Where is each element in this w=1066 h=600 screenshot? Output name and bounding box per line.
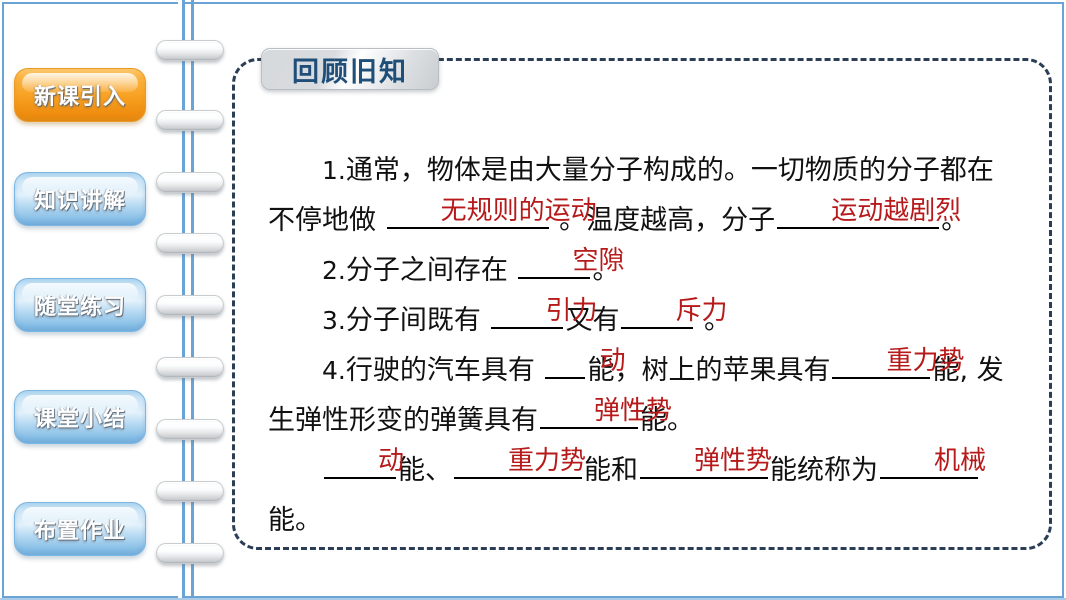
question-text: 能统称为 — [770, 455, 878, 486]
sidebar-item-label: 随堂练习 — [34, 289, 126, 321]
binding-ring — [156, 172, 224, 193]
answer-text: 重力势 — [832, 347, 930, 375]
question-text: 分子之间存在 — [346, 255, 517, 286]
binding-ring — [156, 40, 224, 61]
answer-blank[interactable]: 引力 — [491, 297, 563, 329]
binding-ring — [156, 295, 224, 316]
answer-blank[interactable]: 斥力 — [621, 297, 693, 329]
spiral-binding — [178, 0, 204, 600]
sidebar-item-3[interactable]: 随堂练习 — [14, 278, 146, 332]
answer-blank[interactable]: 运动越剧烈 — [777, 197, 939, 229]
sidebar-item-5[interactable]: 布置作业 — [14, 502, 146, 556]
question-text: 行驶的汽车具有 — [346, 355, 544, 386]
answer-text: 动 — [324, 447, 396, 475]
binding-ring — [156, 543, 224, 564]
section-tab-review[interactable]: 回顾旧知 — [261, 48, 439, 90]
answer-text: 运动越剧烈 — [777, 197, 939, 225]
answer-blank[interactable]: 无规则的运动 — [387, 197, 549, 229]
item-4: 4.行驶的汽车具有 动能，树上的苹果具有重力势能, 发生弹性形变的弹簧具有弹性势… — [268, 346, 1013, 446]
question-text: 能和 — [584, 455, 638, 486]
answer-blank[interactable]: 重力势 — [832, 347, 930, 379]
answer-text: 弹性势 — [640, 447, 768, 475]
answer-blank[interactable]: 动 — [324, 447, 396, 479]
sidebar-item-label: 布置作业 — [34, 513, 126, 545]
answer-blank[interactable]: 重力势 — [454, 447, 582, 479]
answer-blank[interactable]: 机械 — [880, 447, 978, 479]
sidebar-item-label: 知识讲解 — [34, 183, 126, 215]
answer-text: 空隙 — [518, 247, 590, 275]
question-text: 能、 — [398, 455, 452, 486]
sidebar-item-4[interactable]: 课堂小结 — [14, 390, 146, 444]
answer-blank[interactable]: 空隙 — [518, 247, 590, 279]
section-tab-label: 回顾旧知 — [292, 50, 408, 89]
answer-blank[interactable]: 动 — [545, 347, 585, 379]
item-1: 1.通常，物体是由大量分子构成的。一切物质的分子都在不停地做 无规则的运动 。温… — [268, 146, 1013, 246]
sidebar-item-2[interactable]: 知识讲解 — [14, 172, 146, 226]
answer-text: 机械 — [880, 447, 978, 475]
item-number: 4. — [322, 356, 346, 385]
answer-text: 弹性势 — [540, 397, 638, 425]
review-questions-body: 1.通常，物体是由大量分子构成的。一切物质的分子都在不停地做 无规则的运动 。温… — [268, 146, 1013, 546]
item-number: 3. — [322, 306, 346, 335]
binding-ring — [156, 110, 224, 131]
item-3: 3.分子间既有 引力又有斥力 。 — [268, 296, 1013, 346]
answer-text: 无规则的运动 — [387, 197, 549, 225]
question-text: 能。 — [268, 505, 322, 536]
answer-text: 引力 — [491, 297, 563, 325]
binding-ring — [156, 357, 224, 378]
answer-text: 动 — [545, 347, 585, 375]
question-text: 分子间既有 — [346, 305, 490, 336]
sidebar-item-label: 新课引入 — [34, 79, 126, 111]
item-number: 2. — [322, 256, 346, 285]
item-2: 2.分子之间存在 空隙。 — [268, 246, 1013, 296]
sidebar-item-1[interactable]: 新课引入 — [14, 68, 146, 122]
answer-text: 重力势 — [454, 447, 582, 475]
answer-blank[interactable]: 弹性势 — [540, 397, 638, 429]
sidebar-item-label: 课堂小结 — [34, 401, 126, 433]
answer-text: 斥力 — [621, 297, 693, 325]
binding-ring — [156, 233, 224, 254]
binding-ring — [156, 419, 224, 440]
item-number: 1. — [322, 156, 346, 185]
item-5: 动能、重力势能和弹性势能统称为机械能。 — [268, 446, 1013, 546]
answer-blank[interactable]: 弹性势 — [640, 447, 768, 479]
slide-canvas: 新课引入知识讲解随堂练习课堂小结布置作业 回顾旧知 1.通常，物体是由大量分子构… — [0, 0, 1066, 600]
binding-ring — [156, 481, 224, 502]
